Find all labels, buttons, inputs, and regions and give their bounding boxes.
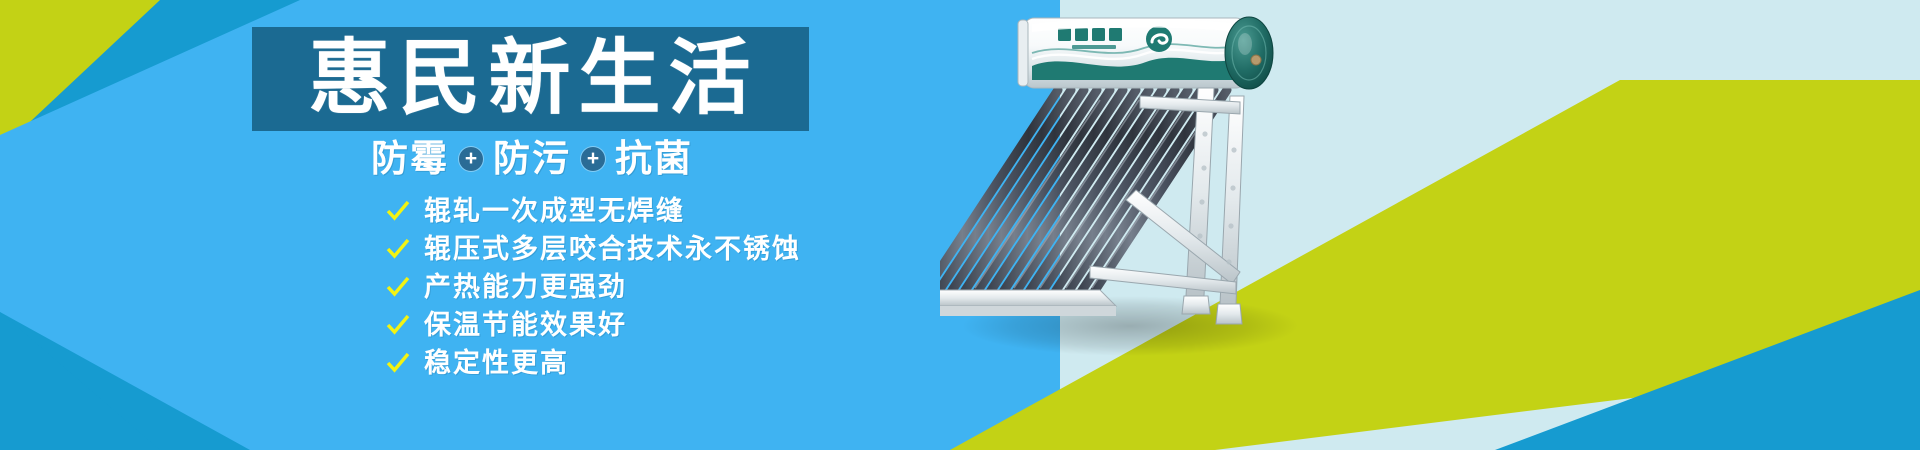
check-icon [386, 275, 410, 299]
list-item: 稳定性更高 [386, 346, 801, 380]
feature-text: 辊轧一次成型无焊缝 [424, 198, 685, 225]
tube-bottom-rail [940, 290, 1116, 316]
product-image-solar-water-heater [940, 4, 1500, 372]
list-item: 产热能力更强劲 [386, 270, 801, 304]
frame-foot-rear [1182, 296, 1210, 314]
subtitle-word-2: 防污 [493, 140, 571, 177]
feature-text: 保温节能效果好 [424, 312, 627, 339]
tank-left-flange [1018, 20, 1028, 86]
feature-text: 辊压式多层咬合技术永不锈蚀 [424, 236, 801, 263]
feature-list: 辊轧一次成型无焊缝 辊压式多层咬合技术永不锈蚀 产热能力更强劲 保温节能效果好 [386, 194, 801, 380]
promo-banner: 惠民新生活 防霉 + 防污 + 抗菌 辊轧一次成型无焊缝 辊压式多层咬合技术永不… [0, 0, 1920, 450]
tank-logo-icon [1146, 26, 1172, 52]
page-title: 惠民新生活 [308, 38, 758, 120]
tank-body [1024, 18, 1246, 88]
subtitle-row: 防霉 + 防污 + 抗菌 [252, 140, 812, 177]
tank-cap-fitting [1251, 55, 1261, 65]
list-item: 辊轧一次成型无焊缝 [386, 194, 801, 228]
frame-foot-front [1216, 304, 1242, 324]
list-item: 辊压式多层咬合技术永不锈蚀 [386, 232, 801, 266]
check-icon [386, 199, 410, 223]
check-icon [386, 237, 410, 261]
plus-icon: + [581, 147, 605, 171]
subtitle-word-1: 防霉 [371, 140, 449, 177]
check-icon [386, 351, 410, 375]
tank-end-cap [1225, 17, 1273, 89]
feature-text: 产热能力更强劲 [424, 274, 627, 301]
evacuated-tube-array [940, 90, 1227, 292]
check-icon [386, 313, 410, 337]
list-item: 保温节能效果好 [386, 308, 801, 342]
tank-subtitle-text [1072, 45, 1116, 49]
title-band: 惠民新生活 [252, 27, 809, 131]
plus-icon: + [459, 147, 483, 171]
feature-text: 稳定性更高 [424, 350, 569, 377]
subtitle-word-3: 抗菌 [615, 140, 693, 177]
